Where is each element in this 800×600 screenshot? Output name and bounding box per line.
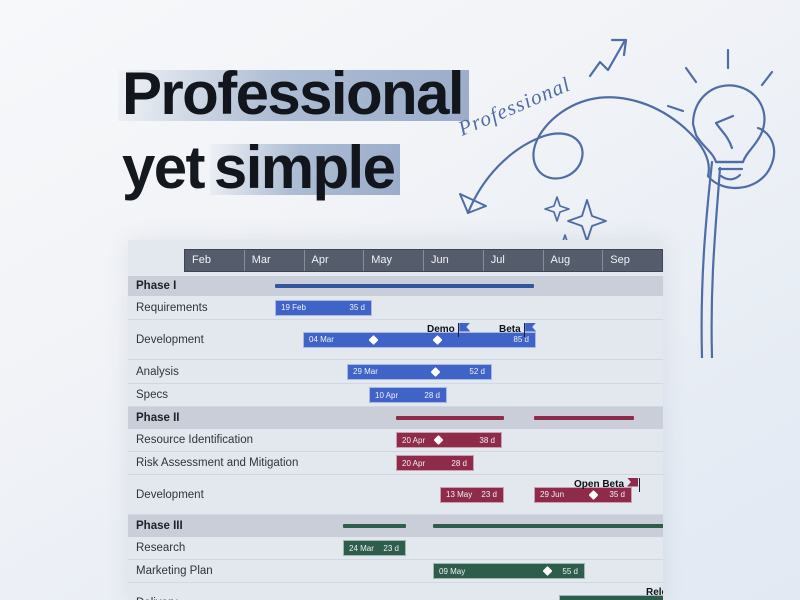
flag-icon	[524, 323, 537, 337]
gantt-task-row[interactable]: Development04 Mar85 dDemoBeta	[128, 320, 663, 360]
bar-duration: 23 d	[383, 544, 399, 553]
bar-start-date: 09 May	[439, 567, 465, 576]
gantt-phase-row[interactable]: Phase I	[128, 276, 663, 296]
headline-line-2: yetsimple	[118, 136, 538, 204]
bar-duration: 28 d	[451, 459, 467, 468]
gantt-task-bar[interactable]: 20 Apr28 d	[396, 455, 474, 471]
row-label: Specs	[136, 389, 168, 401]
flag-label: Beta	[499, 324, 521, 335]
gantt-task-bar[interactable]: 13 May23 d	[440, 487, 504, 503]
row-label: Resource Identification	[136, 434, 253, 446]
milestone-flag[interactable]: Demo	[427, 322, 471, 337]
gantt-task-row[interactable]: Research24 Mar23 d	[128, 537, 663, 560]
flag-label: Open Beta	[574, 479, 624, 490]
sparkle-medium-icon	[545, 197, 569, 221]
bulb-ray-right-icon	[762, 72, 772, 85]
timeline-month-feb[interactable]: Feb	[185, 250, 245, 271]
timeline-month-may[interactable]: May	[364, 250, 424, 271]
bar-start-date: 29 Jun	[540, 490, 564, 499]
row-label: Phase III	[136, 520, 183, 532]
timeline-month-mar[interactable]: Mar	[245, 250, 305, 271]
row-label: Phase II	[136, 412, 179, 424]
bar-start-date: 24 Mar	[349, 544, 374, 553]
phase-summary-segment	[396, 416, 504, 420]
lightbulb-filament-icon	[716, 123, 732, 148]
timeline-month-sep[interactable]: Sep	[603, 250, 662, 271]
hanging-cord-icon	[702, 162, 712, 358]
phase-summary-segment	[343, 524, 406, 528]
milestone-diamond-icon	[543, 566, 553, 576]
milestone-diamond-icon	[434, 435, 444, 445]
timeline-month-jun[interactable]: Jun	[424, 250, 484, 271]
milestone-flag[interactable]: Release	[646, 585, 663, 600]
timeline-month-jul[interactable]: Jul	[484, 250, 544, 271]
swoosh-wrap-path	[708, 128, 774, 188]
bulb-ray-far-left-icon	[668, 106, 683, 111]
gantt-timeline-header: FebMarAprMayJunJulAugSep	[184, 249, 663, 272]
bar-start-date: 19 Feb	[281, 303, 306, 312]
row-label: Requirements	[136, 302, 208, 314]
lightbulb-filament2-icon	[716, 116, 733, 123]
phase-summary-segment	[433, 524, 663, 528]
gantt-task-row[interactable]: DeliveryRelease	[128, 583, 663, 600]
milestone-diamond-icon	[369, 335, 379, 345]
row-label: Research	[136, 542, 185, 554]
bar-duration: 52 d	[469, 367, 485, 376]
headline-word-yet: yet	[118, 136, 210, 204]
milestone-diamond-icon	[431, 367, 441, 377]
row-label: Development	[136, 334, 204, 346]
bar-duration: 55 d	[562, 567, 578, 576]
hanging-cord-2-icon	[712, 168, 720, 358]
gantt-rows: Phase IRequirements19 Feb35 dDevelopment…	[128, 276, 663, 600]
timeline-month-apr[interactable]: Apr	[305, 250, 365, 271]
gantt-task-row[interactable]: Development13 May23 d29 Jun35 dOpen Beta	[128, 475, 663, 515]
gantt-task-bar[interactable]: 24 Mar23 d	[343, 540, 406, 556]
gantt-task-bar[interactable]: 29 Mar52 d	[347, 364, 492, 380]
sparkle-large-icon	[568, 200, 606, 241]
row-label: Marketing Plan	[136, 565, 213, 577]
row-label: Phase I	[136, 280, 176, 292]
row-label: Risk Assessment and Mitigation	[136, 457, 298, 469]
gantt-task-bar[interactable]: 20 Apr38 d	[396, 432, 502, 448]
growth-arrow-tip-icon	[612, 40, 626, 55]
flag-icon	[458, 323, 471, 337]
bar-start-date: 20 Apr	[402, 459, 425, 468]
row-label: Analysis	[136, 366, 179, 378]
gantt-task-row[interactable]: Specs10 Apr28 d	[128, 384, 663, 407]
bar-start-date: 04 Mar	[309, 335, 334, 344]
headline-word-professional: Professional	[118, 62, 469, 130]
gantt-task-bar[interactable]: 09 May55 d	[433, 563, 585, 579]
gantt-phase-row[interactable]: Phase III	[128, 515, 663, 537]
milestone-flag[interactable]: Open Beta	[574, 477, 640, 492]
flag-label: Demo	[427, 324, 455, 335]
gantt-task-row[interactable]: Resource Identification20 Apr38 d	[128, 429, 663, 452]
bulb-base-3-icon	[721, 175, 740, 179]
headline-word-simple: simple	[210, 136, 400, 204]
bar-duration: 28 d	[424, 391, 440, 400]
gantt-task-row[interactable]: Risk Assessment and Mitigation20 Apr28 d	[128, 452, 663, 475]
gantt-task-bar[interactable]: 10 Apr28 d	[369, 387, 447, 403]
phase-summary-segment	[534, 416, 634, 420]
bulb-ray-left-icon	[686, 68, 696, 82]
milestone-flag[interactable]: Beta	[499, 322, 537, 337]
gantt-task-row[interactable]: Requirements19 Feb35 d	[128, 296, 663, 320]
row-label: Delivery	[136, 597, 178, 600]
lightbulb-glass-icon	[693, 85, 764, 162]
bar-start-date: 13 May	[446, 490, 472, 499]
gantt-chart-panel: FebMarAprMayJunJulAugSep Phase IRequirem…	[128, 240, 663, 600]
growth-arrow-icon	[590, 42, 624, 76]
bar-start-date: 20 Apr	[402, 436, 425, 445]
gantt-task-row[interactable]: Analysis29 Mar52 d	[128, 360, 663, 384]
page-title: Professional yetsimple	[118, 62, 538, 210]
bar-start-date: 10 Apr	[375, 391, 398, 400]
headline-line-1: Professional	[118, 62, 538, 130]
row-label: Development	[136, 489, 204, 501]
bar-duration: 38 d	[479, 436, 495, 445]
bar-duration: 35 d	[349, 303, 365, 312]
phase-summary-segment	[275, 284, 534, 288]
gantt-task-bar[interactable]: 19 Feb35 d	[275, 300, 372, 316]
timeline-month-aug[interactable]: Aug	[544, 250, 604, 271]
flag-label: Release	[646, 587, 663, 598]
flag-icon	[627, 478, 640, 492]
gantt-phase-row[interactable]: Phase II	[128, 407, 663, 429]
gantt-task-row[interactable]: Marketing Plan09 May55 d	[128, 560, 663, 583]
bar-duration: 23 d	[481, 490, 497, 499]
bar-start-date: 29 Mar	[353, 367, 378, 376]
